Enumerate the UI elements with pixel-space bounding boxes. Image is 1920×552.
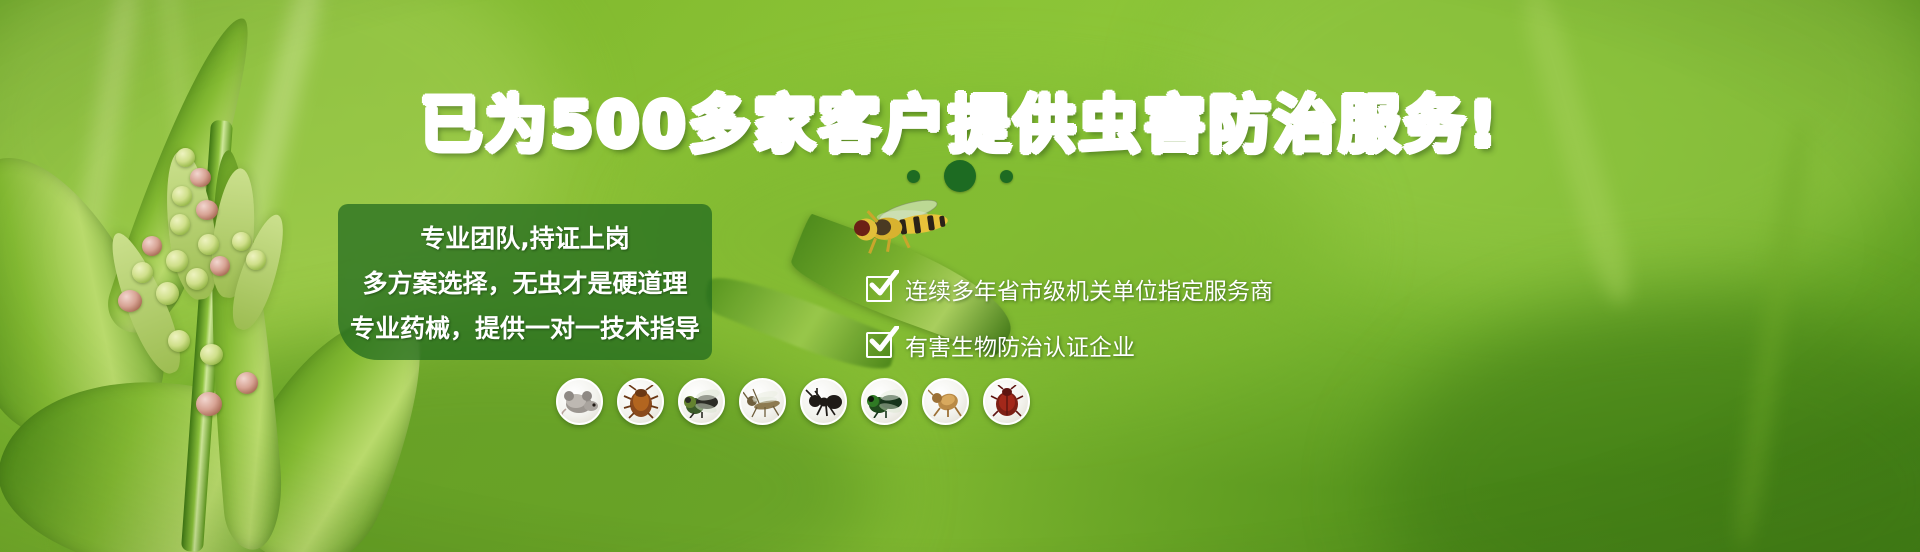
- seed-bud: [196, 392, 222, 416]
- ant-icon[interactable]: [800, 378, 847, 425]
- blowfly-icon[interactable]: [861, 378, 908, 425]
- seed-bud: [156, 282, 179, 305]
- credentials-checklist: 连续多年省市级机关单位指定服务商 有害生物防治认证企业: [866, 272, 1273, 362]
- bedbug-icon[interactable]: [983, 378, 1030, 425]
- checklist-item: 连续多年省市级机关单位指定服务商: [866, 272, 1273, 306]
- decorative-dots: [0, 160, 1920, 192]
- seed-bud: [232, 232, 251, 251]
- seed-bud: [246, 250, 266, 270]
- flea-icon[interactable]: [922, 378, 969, 425]
- mouse-icon[interactable]: [556, 378, 603, 425]
- seed-bud: [132, 262, 153, 283]
- seed-bud: [186, 268, 208, 290]
- promo-banner: 已为500多家客户提供虫害防治服务! 专业团队,持证上岗 多方案选择，无虫才是硬…: [0, 0, 1920, 552]
- dot-small-left: [907, 170, 920, 183]
- seed-bud: [210, 256, 230, 276]
- seed-bud: [198, 234, 219, 255]
- banner-headline: 已为500多家客户提供虫害防治服务!: [0, 74, 1920, 164]
- selling-points-text: 专业团队,持证上岗 多方案选择，无虫才是硬道理 专业药械，提供一对一技术指导: [338, 204, 712, 360]
- seed-bud: [200, 344, 223, 365]
- checkbox-checked-icon: [866, 276, 892, 302]
- seed-bud: [142, 236, 162, 256]
- seed-bud: [236, 372, 258, 394]
- mosquito-icon[interactable]: [739, 378, 786, 425]
- dot-small-right: [1000, 170, 1013, 183]
- checkbox-checked-icon: [866, 332, 892, 358]
- seed-bud: [166, 250, 188, 272]
- seed-bud: [170, 214, 190, 235]
- checklist-item: 有害生物防治认证企业: [866, 328, 1273, 362]
- seed-bud: [168, 330, 190, 352]
- pest-icon-row: [556, 378, 1030, 425]
- checklist-item-label: 连续多年省市级机关单位指定服务商: [905, 272, 1273, 306]
- selling-point-line-1: 专业团队,持证上岗: [420, 219, 630, 255]
- selling-point-line-3: 专业药械，提供一对一技术指导: [350, 309, 700, 345]
- dot-big-center: [944, 160, 976, 192]
- checklist-item-label: 有害生物防治认证企业: [905, 328, 1135, 362]
- seed-bud: [118, 290, 142, 312]
- fly-icon[interactable]: [678, 378, 725, 425]
- cockroach-icon[interactable]: [617, 378, 664, 425]
- seed-bud: [196, 200, 218, 220]
- selling-point-line-2: 多方案选择，无虫才是硬道理: [362, 264, 687, 300]
- banner-headline-text: 已为500多家客户提供虫害防治服务!: [420, 88, 1500, 161]
